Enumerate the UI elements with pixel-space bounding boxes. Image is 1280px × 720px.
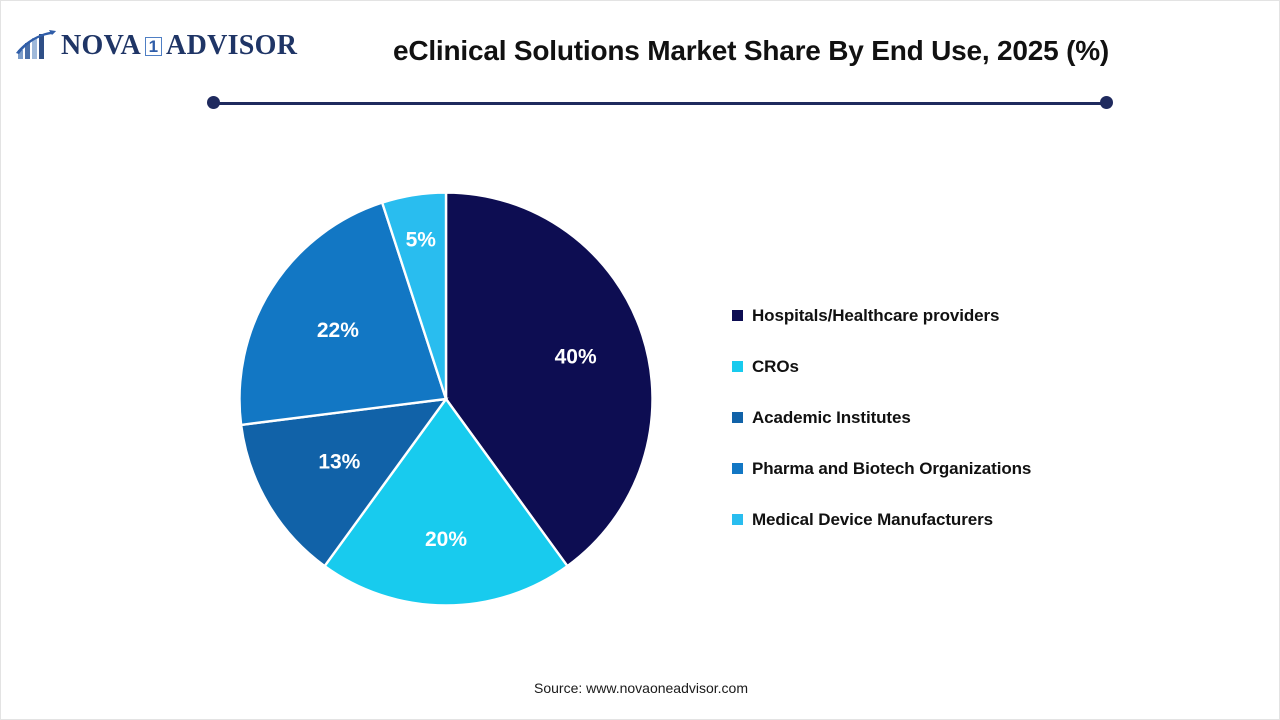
chart-legend: Hospitals/Healthcare providersCROsAcadem… bbox=[732, 290, 1152, 545]
divider-line bbox=[214, 102, 1106, 105]
logo-word-advisor: ADVISOR bbox=[166, 30, 297, 62]
pie-slice-value-label: 5% bbox=[406, 228, 437, 251]
legend-item[interactable]: Medical Device Manufacturers bbox=[732, 494, 1152, 545]
legend-swatch-icon bbox=[732, 310, 743, 321]
legend-swatch-icon bbox=[732, 412, 743, 423]
legend-item[interactable]: Pharma and Biotech Organizations bbox=[732, 443, 1152, 494]
legend-swatch-icon bbox=[732, 463, 743, 474]
pie-slice-value-label: 13% bbox=[318, 451, 360, 474]
pie-slice-value-label: 22% bbox=[317, 319, 359, 342]
divider-dot-right bbox=[1100, 96, 1113, 109]
nova-one-advisor-logo: NOVA 1 ADVISOR bbox=[15, 29, 297, 63]
legend-swatch-icon bbox=[732, 361, 743, 372]
legend-item-label: Academic Institutes bbox=[752, 408, 911, 428]
legend-item-label: CROs bbox=[752, 357, 799, 377]
pie-slice-value-label: 40% bbox=[555, 345, 597, 368]
legend-item-label: Hospitals/Healthcare providers bbox=[752, 306, 999, 326]
logo-word-nova: NOVA bbox=[61, 30, 141, 62]
pie-slice-value-label: 20% bbox=[425, 528, 467, 551]
page-title: eClinical Solutions Market Share By End … bbox=[301, 35, 1201, 67]
legend-item-label: Medical Device Manufacturers bbox=[752, 510, 993, 530]
bar-chart-swoosh-icon bbox=[15, 29, 59, 63]
legend-swatch-icon bbox=[732, 514, 743, 525]
chart-canvas: NOVA 1 ADVISOR eClinical Solutions Marke… bbox=[0, 0, 1280, 720]
pie-chart: 40%20%13%22%5% bbox=[237, 190, 655, 608]
logo-badge-one: 1 bbox=[145, 37, 162, 56]
legend-item[interactable]: Academic Institutes bbox=[732, 392, 1152, 443]
legend-item[interactable]: Hospitals/Healthcare providers bbox=[732, 290, 1152, 341]
title-divider bbox=[207, 96, 1113, 110]
source-caption: Source: www.novaoneadvisor.com bbox=[1, 680, 1280, 696]
legend-item-label: Pharma and Biotech Organizations bbox=[752, 459, 1031, 479]
pie-chart-svg: 40%20%13%22%5% bbox=[237, 190, 655, 608]
legend-item[interactable]: CROs bbox=[732, 341, 1152, 392]
logo-wordmark: NOVA 1 ADVISOR bbox=[61, 30, 297, 62]
